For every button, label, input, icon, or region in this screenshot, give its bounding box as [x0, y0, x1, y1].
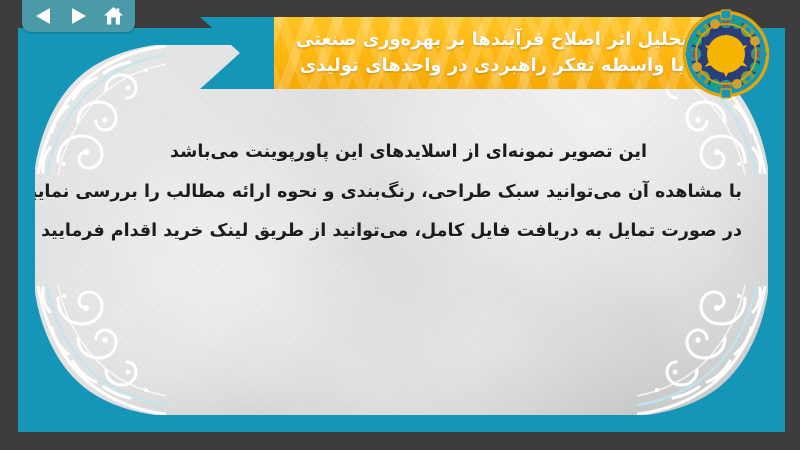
slide-canvas: این تصویر نمونه‌ای از اسلایدهای این پاور… — [35, 45, 768, 415]
home-button[interactable] — [101, 4, 127, 28]
arabesque-corner-icon — [637, 284, 768, 415]
body-line-2: با مشاهده آن می‌توانید سبک طراحی، رنگ‌بن… — [75, 181, 742, 205]
back-button[interactable] — [31, 4, 57, 28]
slide-body-text: این تصویر نمونه‌ای از اسلایدهای این پاور… — [75, 141, 742, 244]
navigation-bar — [22, 0, 135, 32]
home-icon — [103, 6, 124, 26]
triangle-left-icon — [35, 7, 52, 25]
persian-medallion-icon — [682, 8, 770, 100]
slide-title-line-1: تحلیل اثر اصلاح فرآیندها بر بهره‌وری صنع… — [296, 27, 698, 53]
arabesque-corner-icon — [35, 284, 166, 415]
slide-title-line-2: با واسطه تفکر راهبردی در واحدهای تولیدی — [300, 53, 694, 79]
body-line-3: در صورت تمایل به دریافت فایل کامل، می‌تو… — [75, 220, 742, 244]
slide-viewer: این تصویر نمونه‌ای از اسلایدهای این پاور… — [0, 0, 800, 450]
title-banner: تحلیل اثر اصلاح فرآیندها بر بهره‌وری صنع… — [200, 17, 720, 89]
body-line-1: این تصویر نمونه‌ای از اسلایدهای این پاور… — [75, 141, 742, 165]
triangle-right-icon — [70, 7, 87, 25]
ribbon-arrow-tail — [200, 17, 276, 89]
forward-button[interactable] — [66, 4, 92, 28]
ribbon-body: تحلیل اثر اصلاح فرآیندها بر بهره‌وری صنع… — [274, 17, 720, 89]
